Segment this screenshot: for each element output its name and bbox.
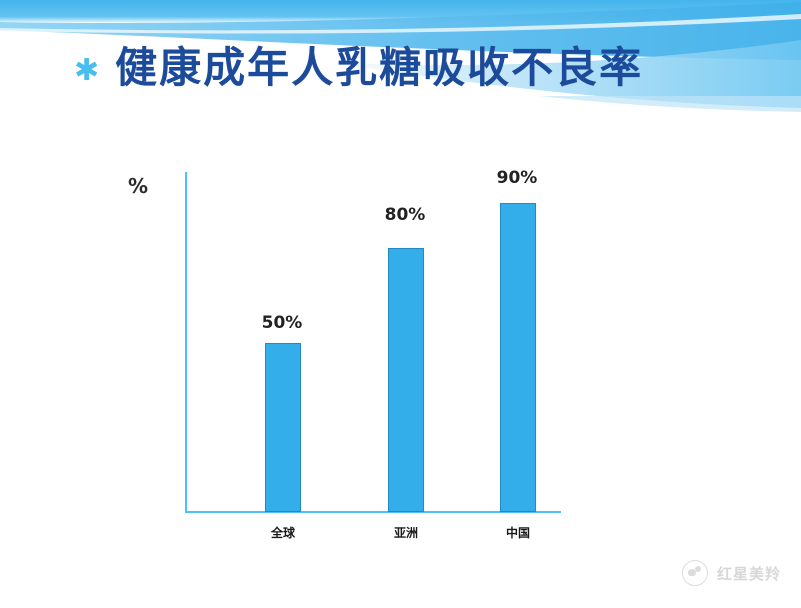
bar-value-label: 50%	[240, 313, 324, 333]
bar-chart: % 50% 全球 80% 亚洲 90% 中国	[0, 0, 801, 608]
bar-value-label: 80%	[363, 205, 447, 225]
bar-value-label: 90%	[475, 168, 559, 188]
x-axis-category-label: 亚洲	[364, 524, 448, 541]
bar-rect	[388, 248, 424, 512]
bar-rect	[265, 343, 301, 512]
x-axis-category-label: 全球	[241, 524, 325, 541]
y-axis-unit-label: %	[128, 174, 148, 198]
bar-rect	[500, 203, 536, 512]
slide-canvas: ✱ 健康成年人乳糖吸收不良率 % 50% 全球 80% 亚洲 90% 中国 红星…	[0, 0, 801, 608]
x-axis-category-label: 中国	[476, 524, 560, 541]
y-axis-line	[185, 172, 187, 513]
